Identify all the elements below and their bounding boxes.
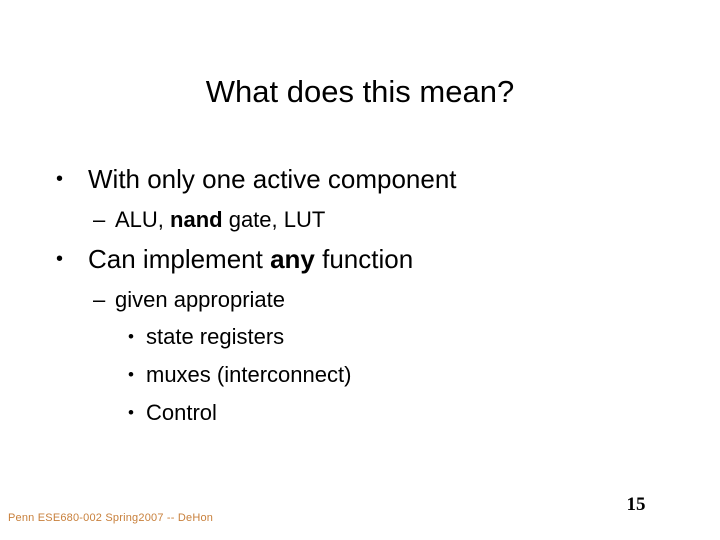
bullet-text-trailing: gate, LUT — [223, 207, 326, 232]
slide-footer: Penn ESE680-002 Spring2007 -- DeHon — [8, 511, 213, 525]
bullet-text-trailing: function — [315, 244, 413, 274]
bullet-text-emphasis: nand — [170, 207, 223, 232]
bullet-item-level-1: •Can implement any function — [0, 238, 720, 281]
bullet-text: state registers — [146, 318, 284, 356]
bullet-text-plain: With only one active component — [88, 164, 457, 194]
bullet-item-level-2: –ALU, nand gate, LUT — [0, 201, 720, 238]
bullet-text-plain: Control — [146, 400, 217, 425]
slide-page-number: 15 — [600, 494, 672, 516]
bullet-text-plain: given appropriate — [115, 287, 285, 312]
bullet-text-plain: ALU, — [115, 207, 170, 232]
bullet-text: Can implement any function — [88, 238, 413, 281]
bullet-item-level-3: •muxes (interconnect) — [0, 356, 720, 394]
bullet-item-level-3: •state registers — [0, 318, 720, 356]
bullet-text: given appropriate — [115, 281, 285, 318]
dash-bullet-icon: – — [93, 281, 115, 318]
bullet-text-plain: muxes (interconnect) — [146, 362, 351, 387]
slide-body-content: •With only one active component–ALU, nan… — [0, 158, 720, 432]
bullet-item-level-1: •With only one active component — [0, 158, 720, 201]
dot-bullet-icon: • — [128, 356, 146, 394]
bullet-text: muxes (interconnect) — [146, 356, 351, 394]
dot-bullet-icon: • — [128, 394, 146, 432]
bullet-text-plain: state registers — [146, 324, 284, 349]
bullet-text: ALU, nand gate, LUT — [115, 201, 325, 238]
bullet-text-plain: Can implement — [88, 244, 270, 274]
bullet-text-emphasis: any — [270, 244, 315, 274]
bullet-text: With only one active component — [88, 158, 457, 201]
bullet-item-level-3: •Control — [0, 394, 720, 432]
dot-bullet-icon: • — [56, 158, 80, 201]
dash-bullet-icon: – — [93, 201, 115, 238]
bullet-text: Control — [146, 394, 217, 432]
slide-title: What does this mean? — [0, 74, 720, 110]
bullet-item-level-2: –given appropriate — [0, 281, 720, 318]
dot-bullet-icon: • — [56, 238, 80, 281]
dot-bullet-icon: • — [128, 318, 146, 356]
presentation-slide: What does this mean? •With only one acti… — [0, 0, 720, 540]
